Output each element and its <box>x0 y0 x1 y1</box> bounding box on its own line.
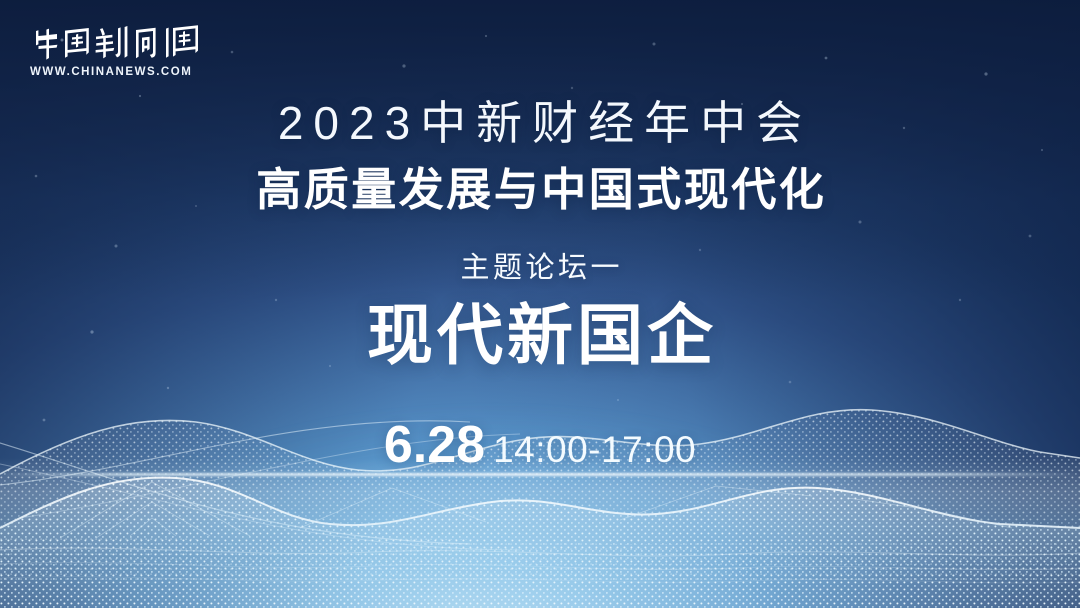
event-datetime: 6.28 14:00-17:00 <box>0 418 1080 472</box>
chinanews-logo[interactable]: WWW.CHINANEWS.COM <box>30 22 206 78</box>
event-date: 6.28 <box>384 418 485 472</box>
poster-content: 2023中新财经年中会 高质量发展与中国式现代化 主题论坛一 现代新国企 6.2… <box>0 98 1080 472</box>
chinanews-logo-icon <box>30 22 206 60</box>
forum-title: 现代新国企 <box>0 296 1080 374</box>
event-year-line: 2023中新财经年中会 <box>0 98 1080 148</box>
forum-label: 主题论坛一 <box>0 251 1080 285</box>
event-time-range: 14:00-17:00 <box>493 430 696 470</box>
horizon-line <box>0 473 1080 476</box>
chinanews-url-label: WWW.CHINANEWS.COM <box>30 66 206 78</box>
event-theme-line: 高质量发展与中国式现代化 <box>0 166 1080 214</box>
event-poster: WWW.CHINANEWS.COM 2023中新财经年中会 高质量发展与中国式现… <box>0 0 1080 608</box>
